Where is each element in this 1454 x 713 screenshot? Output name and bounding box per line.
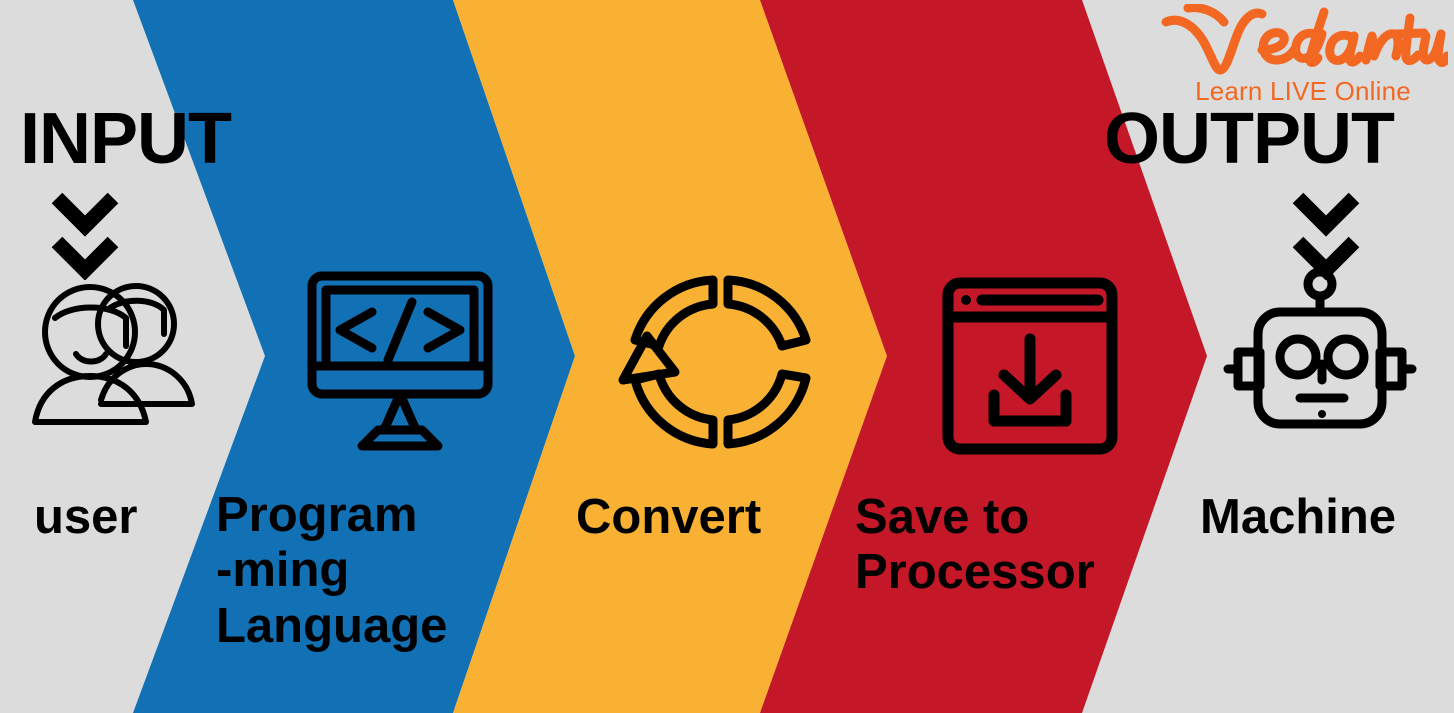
step-label-user: user (34, 490, 138, 545)
step-label-save-to-processor: Save to Processor (855, 490, 1095, 601)
robot-icon (1222, 268, 1418, 460)
chevron-down-double-input-icon (49, 188, 121, 280)
window-download-icon (940, 275, 1120, 457)
vedantu-logo: Learn LIVE Online (1158, 4, 1448, 112)
chevron-down-double-output-icon (1290, 188, 1362, 280)
step-label-convert: Convert (576, 490, 761, 545)
refresh-cycle-icon (613, 268, 828, 463)
page-title-output: OUTPUT (1104, 103, 1394, 175)
diagram-canvas: Learn LIVE Online INPUT OUTPUT user (0, 0, 1454, 713)
monitor-code-icon (300, 268, 500, 463)
page-title-input: INPUT (20, 103, 231, 175)
vedantu-wordmark-icon (1158, 4, 1448, 82)
users-icon (20, 272, 210, 462)
step-label-programming-language: Program -ming Language (216, 488, 447, 654)
step-label-machine: Machine (1200, 490, 1396, 545)
